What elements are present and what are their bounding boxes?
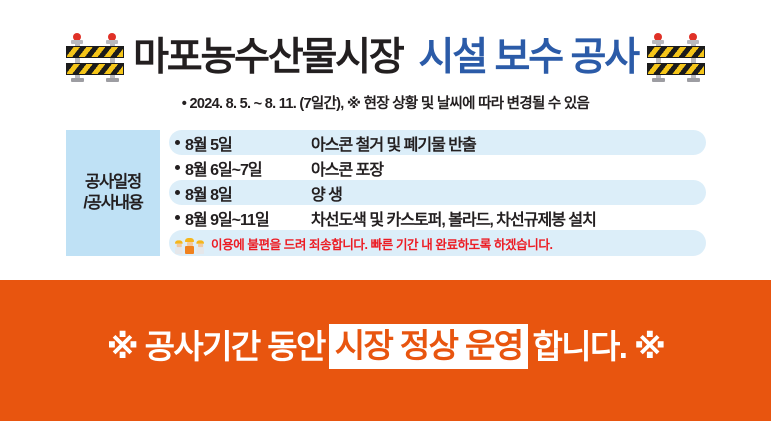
schedule-label-cell: 공사일정 /공사내용	[66, 130, 160, 256]
barrier-plank-top	[647, 46, 705, 58]
apology-row: 이용에 불편을 드려 죄송합니다. 빠른 기간 내 완료하도록 하겠습니다.	[169, 230, 706, 256]
apology-message: 이용에 불편을 드려 죄송합니다. 빠른 기간 내 완료하도록 하겠습니다.	[211, 234, 553, 253]
barrier-plank-bottom	[66, 63, 124, 75]
schedule-rows: 8월 5일 아스콘 철거 및 폐기물 반출 8월 6일~7일 아스콘 포장 8월…	[169, 130, 706, 256]
barrier-plank-bottom	[647, 63, 705, 75]
schedule-description: 아스콘 철거 및 폐기물 반출	[311, 131, 700, 155]
construction-barrier-icon	[645, 32, 707, 82]
schedule-date: 8월 5일	[185, 131, 311, 155]
construction-notice-poster: 마포농수산물시장 시설 보수 공사 • 2024. 8. 5. ~ 8. 11.…	[0, 0, 771, 421]
schedule-date: 8월 6일~7일	[185, 156, 311, 180]
worker-body	[196, 247, 204, 254]
schedule-label-line1: 공사일정	[85, 172, 141, 193]
schedule-table: 공사일정 /공사내용 8월 5일 아스콘 철거 및 폐기물 반출 8월 6일~7…	[66, 130, 706, 256]
table-row: 8월 8일 양 생	[169, 180, 706, 205]
schedule-date: 8월 9일~11일	[185, 206, 311, 230]
bullet-icon	[175, 165, 180, 170]
banner-highlight: 시장 정상 운영	[329, 324, 529, 369]
bullet-icon	[175, 215, 180, 220]
table-row: 8월 9일~11일 차선도색 및 카스토퍼, 볼라드, 차선규제봉 설치	[169, 205, 706, 230]
construction-barrier-icon	[64, 32, 126, 82]
normal-operation-banner: ※ 공사기간 동안 시장 정상 운영 합니다. ※	[0, 280, 771, 421]
worker-figure-center	[185, 238, 194, 254]
bullet-icon	[175, 140, 180, 145]
schedule-label-line2: /공사내용	[83, 193, 142, 214]
worker-figure-right	[196, 240, 204, 254]
worker-figure-left	[175, 240, 183, 254]
bullet-icon	[175, 190, 180, 195]
banner-suffix: 합니다. ※	[532, 330, 664, 363]
table-row: 8월 6일~7일 아스콘 포장	[169, 155, 706, 180]
worker-body	[175, 247, 183, 254]
worker-body	[185, 246, 194, 254]
construction-period-note: • 2024. 8. 5. ~ 8. 11. (7일간), ※ 현장 상황 및 …	[0, 92, 771, 113]
schedule-description: 차선도색 및 카스토퍼, 볼라드, 차선규제봉 설치	[311, 206, 700, 230]
banner-text-group: ※ 공사기간 동안 시장 정상 운영 합니다. ※	[107, 324, 665, 369]
page-title-primary: 마포농수산물시장	[133, 38, 402, 77]
page-title-secondary: 시설 보수 공사	[419, 38, 638, 77]
schedule-description: 아스콘 포장	[311, 156, 700, 180]
schedule-date: 8월 8일	[185, 181, 311, 205]
schedule-description: 양 생	[311, 181, 700, 205]
title-row: 마포농수산물시장 시설 보수 공사	[0, 26, 771, 88]
table-row: 8월 5일 아스콘 철거 및 폐기물 반출	[169, 130, 706, 155]
barrier-foot-right	[106, 78, 119, 82]
barrier-foot-right	[687, 78, 700, 82]
banner-prefix: ※ 공사기간 동안	[107, 330, 325, 363]
barrier-foot-left	[71, 78, 84, 82]
barrier-foot-left	[652, 78, 665, 82]
construction-workers-icon	[175, 232, 205, 254]
barrier-plank-top	[66, 46, 124, 58]
